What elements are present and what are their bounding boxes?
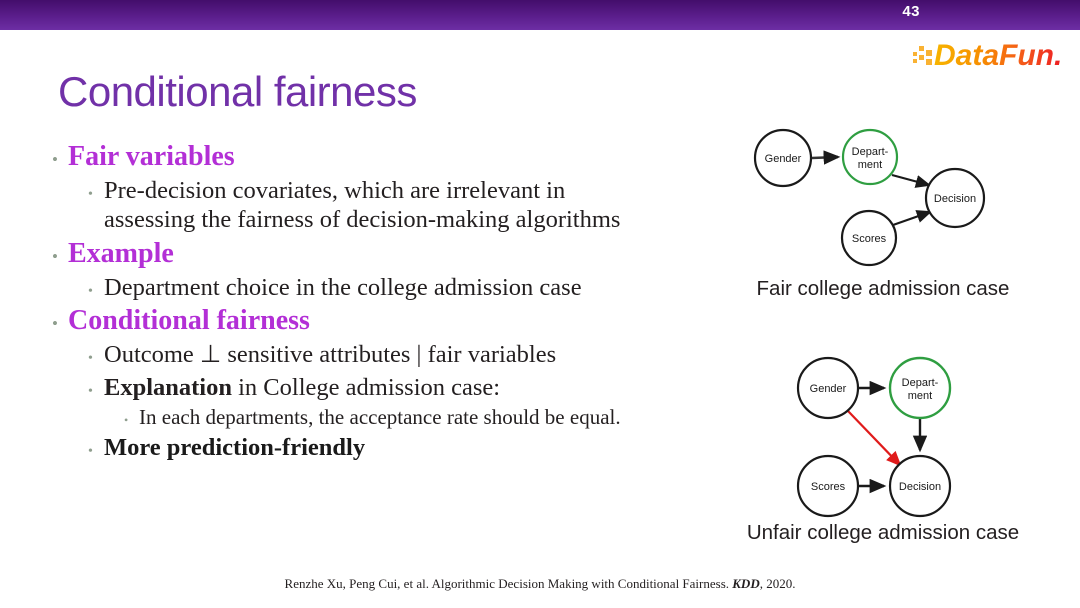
diagram-unfair-case-caption: Unfair college admission case	[733, 521, 1033, 545]
datafun-logo-svg: DataFun.	[912, 36, 1062, 72]
node-scores: Scores	[798, 456, 858, 516]
node-department-label-line2: ment	[908, 390, 932, 402]
bullet-pre-decision-covariates: • Pre-decision covariates, which are irr…	[88, 176, 732, 235]
node-department: Depart- ment	[890, 358, 950, 418]
page-title: Conditional fairness	[58, 68, 417, 116]
page-number: 43	[902, 3, 920, 20]
bullet-pre-decision-covariates-label: Pre-decision covariates, which are irrel…	[104, 176, 732, 235]
bullet-more-prediction-friendly: • More prediction-friendly	[88, 433, 732, 462]
bullet-dot-icon: •	[88, 285, 104, 299]
citation-before: Renzhe Xu, Peng Cui, et al. Algorithmic …	[285, 576, 733, 591]
bullet-example: • Example	[52, 237, 732, 270]
edge-scores-to-decision	[893, 212, 930, 225]
bullet-acceptance-rate-label: In each departments, the acceptance rate…	[139, 405, 732, 430]
node-decision: Decision	[926, 169, 984, 227]
bullet-dot-icon: •	[88, 352, 104, 366]
bullet-example-label: Example	[68, 237, 732, 270]
node-gender-label: Gender	[810, 383, 847, 395]
node-department-label-line1: Depart-	[902, 377, 939, 389]
bullet-fair-variables: • Fair variables	[52, 140, 732, 173]
node-scores-label: Scores	[852, 233, 887, 245]
bullet-dot-icon: •	[52, 248, 68, 265]
node-gender-label: Gender	[765, 153, 802, 165]
bullet-acceptance-rate: • In each departments, the acceptance ra…	[124, 405, 732, 430]
citation: Renzhe Xu, Peng Cui, et al. Algorithmic …	[0, 576, 1080, 592]
explanation-rest: in College admission case:	[232, 374, 500, 401]
bullet-conditional-fairness-label: Conditional fairness	[68, 304, 732, 337]
node-decision-label: Decision	[899, 481, 941, 493]
node-decision-label: Decision	[934, 193, 976, 205]
bullet-outcome-independence-label: Outcome ⊥ sensitive attributes | fair va…	[104, 340, 732, 369]
diagram-unfair-case-svg: Gender Depart- ment Scores Decision	[735, 345, 1035, 550]
node-scores: Scores	[842, 211, 896, 265]
datafun-logo: DataFun.	[912, 36, 1062, 72]
bullet-list: • Fair variables • Pre-decision covariat…	[52, 138, 732, 463]
node-department-label-line2: ment	[858, 159, 882, 171]
diagram-unfair-case: Gender Depart- ment Scores Decision	[735, 345, 1035, 550]
bullet-dot-icon: •	[88, 445, 104, 459]
bullet-outcome-independence: • Outcome ⊥ sensitive attributes | fair …	[88, 340, 732, 369]
node-gender: Gender	[798, 358, 858, 418]
bullet-fair-variables-label: Fair variables	[68, 140, 732, 173]
bullet-department-choice: • Department choice in the college admis…	[88, 273, 732, 302]
bullet-explanation-label: Explanation in College admission case:	[104, 373, 732, 402]
edge-gender-to-department	[812, 157, 838, 158]
covariates-line-2: assessing the fairness of decision-makin…	[104, 206, 620, 233]
citation-venue: KDD	[732, 576, 759, 591]
node-department: Depart- ment	[843, 130, 897, 184]
node-scores-label: Scores	[811, 481, 846, 493]
covariates-line-1: Pre-decision covariates, which are irrel…	[104, 177, 565, 204]
node-gender: Gender	[755, 130, 811, 186]
edge-department-to-decision	[892, 175, 929, 185]
slide: 43 DataFun. Conditional	[0, 0, 1080, 608]
bullet-conditional-fairness: • Conditional fairness	[52, 304, 732, 337]
logo-wordmark: DataFun.	[934, 39, 1062, 72]
logo-dots-icon	[913, 46, 932, 65]
node-department-label-line1: Depart-	[852, 146, 889, 158]
diagram-fair-case-caption: Fair college admission case	[733, 277, 1033, 301]
bullet-department-choice-label: Department choice in the college admissi…	[104, 273, 732, 302]
citation-after: , 2020.	[760, 576, 796, 591]
bullet-dot-icon: •	[88, 385, 104, 399]
bullet-explanation: • Explanation in College admission case:	[88, 373, 732, 402]
bullet-dot-icon: •	[88, 188, 104, 202]
explanation-emphasis: Explanation	[104, 374, 232, 401]
edge-gender-to-decision-unfair	[848, 411, 900, 465]
bullet-more-prediction-friendly-label: More prediction-friendly	[104, 433, 732, 462]
node-decision: Decision	[890, 456, 950, 516]
bullet-dot-icon: •	[52, 315, 68, 332]
bullet-dot-icon: •	[52, 151, 68, 168]
bullet-dot-icon: •	[124, 414, 139, 426]
